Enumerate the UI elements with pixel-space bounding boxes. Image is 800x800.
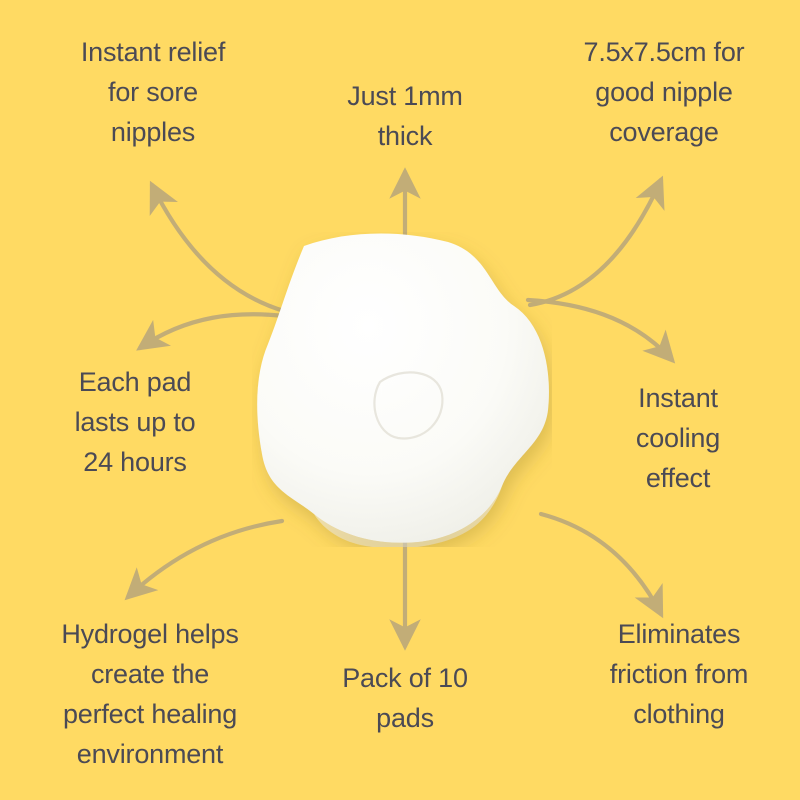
arrow-bottom-right <box>541 514 661 614</box>
label-each-pad-duration: Each pad lasts up to 24 hours <box>10 362 260 482</box>
label-instant-cooling-effect: Instant cooling effect <box>578 378 778 498</box>
label-hydrogel-healing: Hydrogel helps create the perfect healin… <box>10 614 290 774</box>
label-eliminates-friction: Eliminates friction from clothing <box>560 614 798 734</box>
label-just-1mm-thick: Just 1mm thick <box>300 76 510 156</box>
label-size-coverage: 7.5x7.5cm for good nipple coverage <box>540 32 788 152</box>
pad-body <box>257 233 549 542</box>
label-instant-relief: Instant relief for sore nipples <box>18 32 288 152</box>
hydrogel-pad <box>252 232 552 547</box>
product-feature-infographic: Instant relief for sore nipples Just 1mm… <box>0 0 800 800</box>
label-pack-of-10: Pack of 10 pads <box>300 658 510 738</box>
